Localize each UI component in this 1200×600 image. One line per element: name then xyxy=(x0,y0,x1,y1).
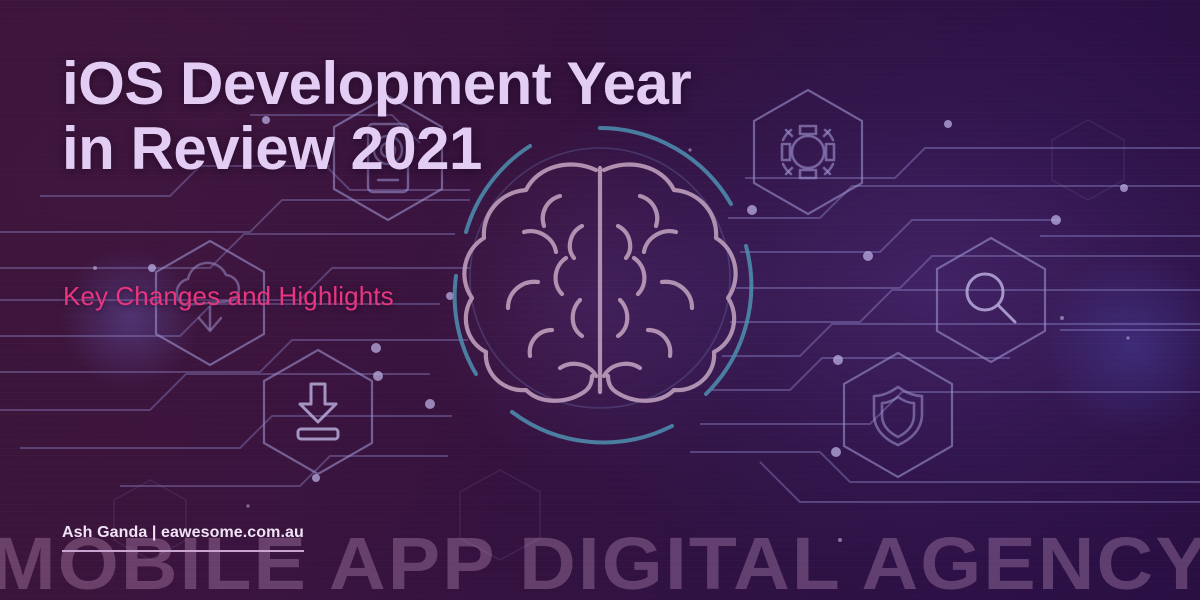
magnifier-icon xyxy=(967,274,1015,322)
download-arrow-icon xyxy=(298,384,338,439)
gear-icon xyxy=(778,126,841,178)
hexagon-shield xyxy=(844,353,952,477)
attribution-text: Ash Ganda | eawesome.com.au xyxy=(62,524,304,541)
banner-canvas: MOBILE APP DIGITAL AGENCY iOS Developmen… xyxy=(0,0,1200,600)
hexagon-gear xyxy=(754,90,862,214)
attribution[interactable]: Ash Ganda | eawesome.com.au xyxy=(62,524,304,552)
shield-icon xyxy=(874,387,922,445)
brain-icon xyxy=(464,164,735,400)
page-subtitle: Key Changes and Highlights xyxy=(63,281,394,312)
page-title: iOS Development Year in Review 2021 xyxy=(62,52,691,182)
